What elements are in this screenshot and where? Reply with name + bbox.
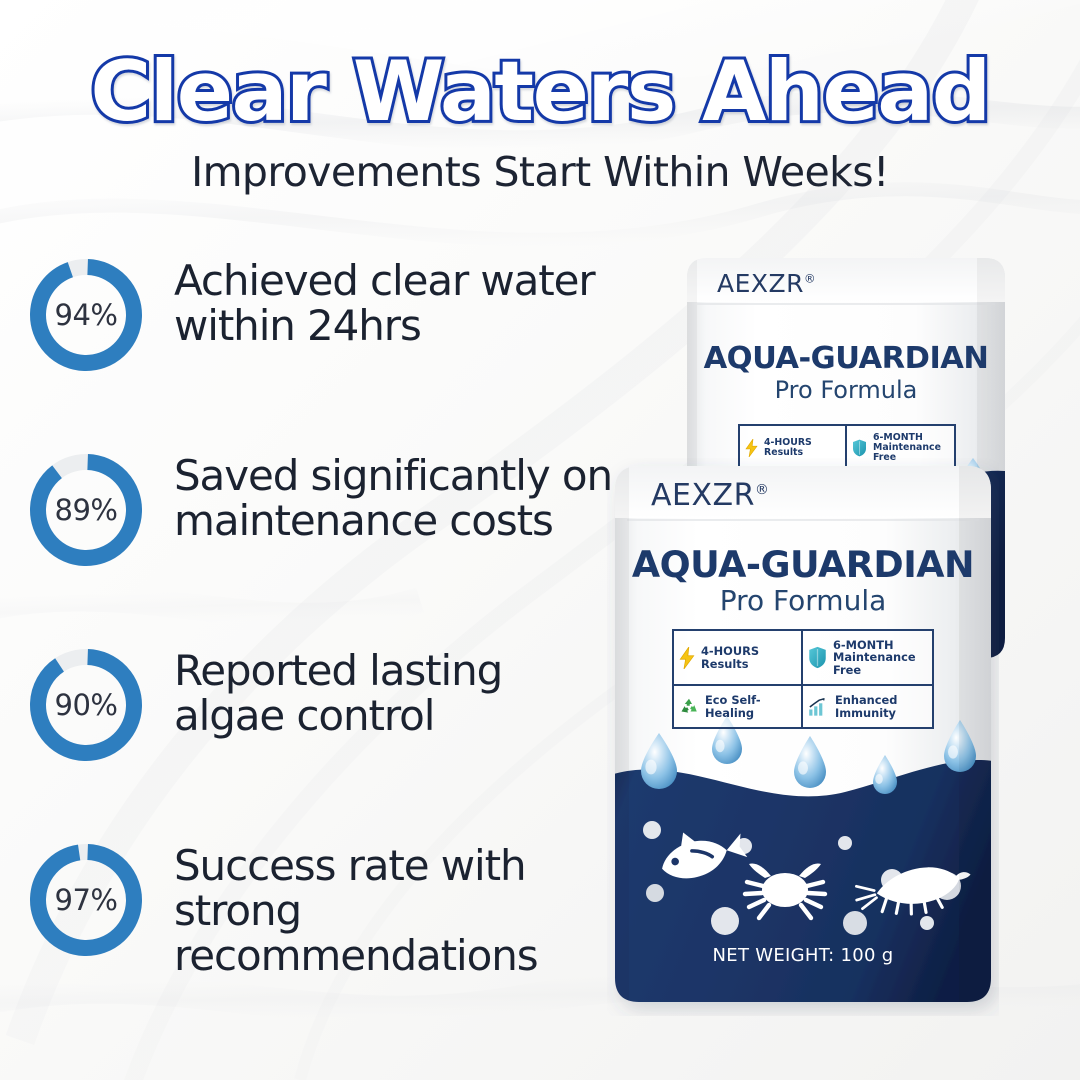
donut-percent-1: 89% xyxy=(24,448,148,572)
page-subtitle: Improvements Start Within Weeks! xyxy=(0,148,1080,196)
page-title-block: Clear Waters Ahead xyxy=(0,48,1080,135)
donut-chart-3: 97% xyxy=(24,838,148,962)
bubble xyxy=(843,911,867,935)
product-pouch-front: AEXZR® AQUA-GUARDIAN Pro Formula 4-HOURS… xyxy=(607,458,999,1016)
stat-label-3: Success rate with strong recommendations xyxy=(174,838,624,979)
stat-label-0: Achieved clear water within 24hrs xyxy=(174,253,624,349)
stat-label-2: Reported lasting algae control xyxy=(174,643,624,739)
bubble xyxy=(643,821,661,839)
bubble xyxy=(646,884,664,902)
stat-item-3: 97% Success rate with strong recommendat… xyxy=(24,838,624,979)
donut-chart-0: 94% xyxy=(24,253,148,377)
bubble xyxy=(838,836,852,850)
stat-label-1: Saved significantly on maintenance costs xyxy=(174,448,624,544)
bubble xyxy=(920,916,934,930)
stat-item-1: 89% Saved significantly on maintenance c… xyxy=(24,448,624,572)
stat-item-0: 94% Achieved clear water within 24hrs xyxy=(24,253,624,377)
stat-item-2: 90% Reported lasting algae control xyxy=(24,643,624,767)
donut-chart-1: 89% xyxy=(24,448,148,572)
page-title: Clear Waters Ahead xyxy=(0,48,1080,135)
donut-percent-3: 97% xyxy=(24,838,148,962)
bubble xyxy=(711,907,739,935)
donut-percent-0: 94% xyxy=(24,253,148,377)
donut-chart-2: 90% xyxy=(24,643,148,767)
donut-percent-2: 90% xyxy=(24,643,148,767)
